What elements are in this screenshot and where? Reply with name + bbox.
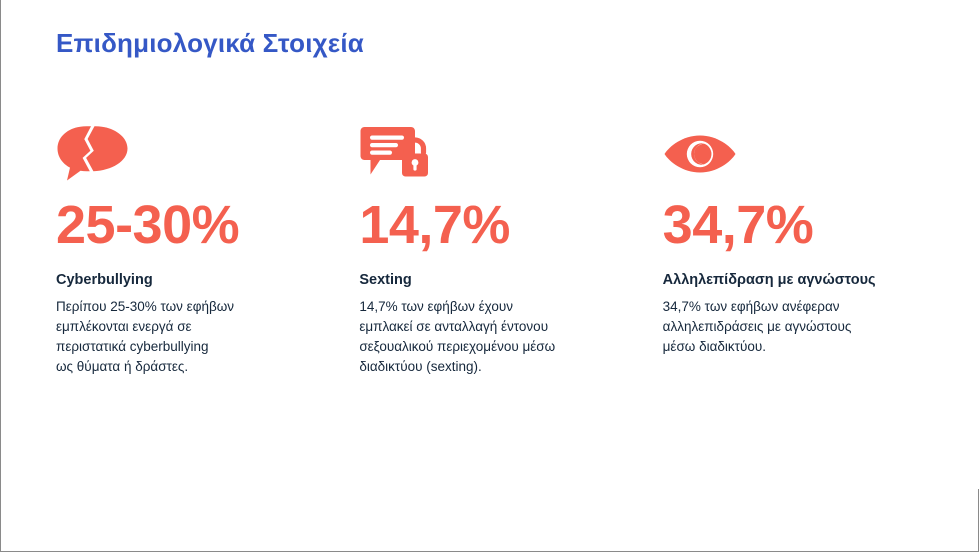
description-line: περιστατικά cyberbullying <box>56 337 326 357</box>
eye-icon <box>663 118 936 190</box>
stat-description: 34,7% των εφήβων ανέφεραν αλληλεπιδράσει… <box>663 297 933 357</box>
stat-value: 25-30% <box>56 198 329 252</box>
stat-card-cyberbullying: 25-30% Cyberbullying Περίπου 25-30% των … <box>56 118 329 377</box>
stat-card-sexting: 14,7% Sexting 14,7% των εφήβων έχουν εμπ… <box>359 118 632 377</box>
description-line: ως θύματα ή δράστες. <box>56 357 326 377</box>
stat-card-stranger-interaction: 34,7% Αλληλεπίδραση με αγνώστους 34,7% τ… <box>663 118 936 357</box>
broken-speech-bubble-icon <box>56 118 329 190</box>
stat-value: 34,7% <box>663 198 936 252</box>
description-line: Περίπου 25-30% των εφήβων <box>56 297 326 317</box>
stat-description: Περίπου 25-30% των εφήβων εμπλέκονται εν… <box>56 297 326 377</box>
description-line: 14,7% των εφήβων έχουν <box>359 297 629 317</box>
page-title: Επιδημιολογικά Στοιχεία <box>56 28 364 59</box>
description-line: διαδικτύου (sexting). <box>359 357 629 377</box>
description-line: εμπλέκονται ενεργά σε <box>56 317 326 337</box>
stat-value: 14,7% <box>359 198 632 252</box>
chat-bubble-lock-icon <box>359 118 632 190</box>
description-line: μέσω διαδικτύου. <box>663 337 933 357</box>
stat-label: Cyberbullying <box>56 272 329 288</box>
description-line: εμπλακεί σε ανταλλαγή έντονου <box>359 317 629 337</box>
description-line: σεξουαλικού περιεχομένου μέσω <box>359 337 629 357</box>
stat-label: Sexting <box>359 272 632 288</box>
slide-canvas: Επιδημιολογικά Στοιχεία 25-30% Cyberbull… <box>0 0 979 552</box>
stat-label: Αλληλεπίδραση με αγνώστους <box>663 272 936 288</box>
description-line: αλληλεπιδράσεις με αγνώστους <box>663 317 933 337</box>
description-line: 34,7% των εφήβων ανέφεραν <box>663 297 933 317</box>
stat-description: 14,7% των εφήβων έχουν εμπλακεί σε ανταλ… <box>359 297 629 377</box>
stats-columns: 25-30% Cyberbullying Περίπου 25-30% των … <box>56 118 936 377</box>
